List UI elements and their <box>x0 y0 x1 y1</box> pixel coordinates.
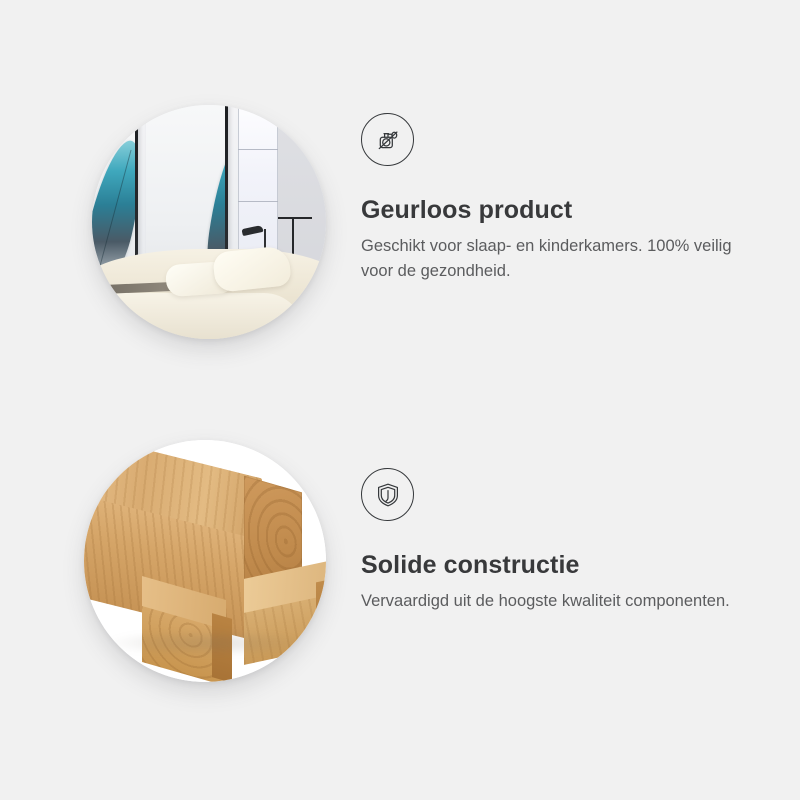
room-scene <box>92 105 326 339</box>
feature-image-wrapper <box>92 105 326 339</box>
feature-title: Solide constructie <box>361 551 800 580</box>
feature-title: Geurloos product <box>361 196 800 225</box>
pillow <box>212 245 292 293</box>
wooden-blocks-photo <box>84 440 326 682</box>
wood-block-right-side <box>316 578 326 645</box>
wood-scene <box>84 440 326 682</box>
feature-description: Vervaardigd uit de hoogste kwaliteit com… <box>361 589 753 614</box>
product-feature-panel: Geurloos product Geschikt voor slaap- en… <box>0 0 800 800</box>
shield-icon <box>361 468 414 521</box>
feature-solid-construction: Solide constructie Vervaardigd uit de ho… <box>0 425 800 710</box>
blanket <box>92 293 304 339</box>
feature-scent-free: Geurloos product Geschikt voor slaap- en… <box>0 80 800 370</box>
feature-copy: Solide constructie Vervaardigd uit de ho… <box>326 425 800 614</box>
feature-description: Geschikt voor slaap- en kinderkamers. 10… <box>361 234 753 284</box>
wood-shadow <box>106 630 306 656</box>
no-perfume-icon <box>361 113 414 166</box>
headboard-rail-top <box>278 217 312 219</box>
feature-image-wrapper <box>84 440 326 682</box>
bedroom-feather-triptych-photo <box>92 105 326 339</box>
feature-copy: Geurloos product Geschikt voor slaap- en… <box>326 80 800 283</box>
